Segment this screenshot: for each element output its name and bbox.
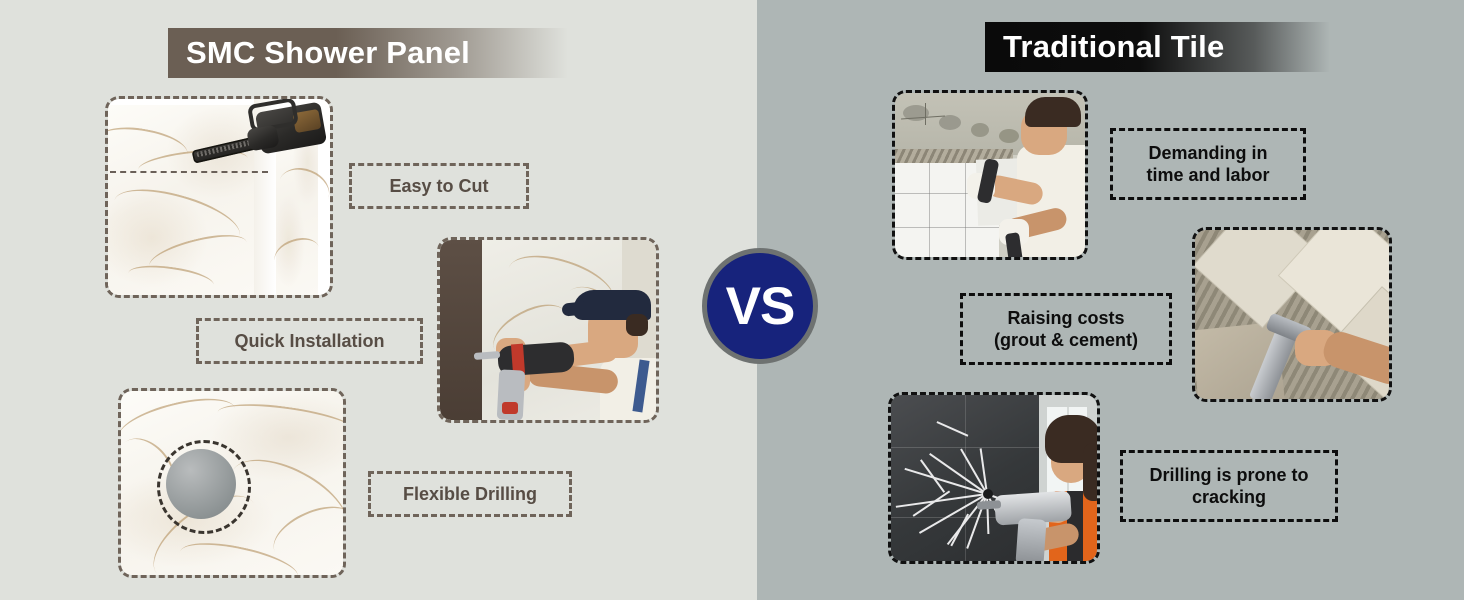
- callout-flexible-drilling-label: Flexible Drilling: [403, 483, 537, 506]
- callout-quick-installation-label: Quick Installation: [234, 330, 384, 353]
- right-section-title: Traditional Tile: [985, 22, 1330, 72]
- drill-hole-dashed-outline: [157, 440, 251, 534]
- callout-easy-to-cut-label: Easy to Cut: [389, 175, 488, 198]
- callout-raising-costs-line2: (grout & cement): [994, 329, 1138, 352]
- vs-badge: VS: [702, 248, 818, 364]
- callout-flexible-drilling: Flexible Drilling: [368, 471, 572, 517]
- photo-trowel-spreading-adhesive: [1192, 227, 1392, 402]
- infographic-canvas: SMC Shower Panel Traditional Tile VS: [0, 0, 1464, 600]
- callout-easy-to-cut: Easy to Cut: [349, 163, 529, 209]
- photo-panel-installation: [437, 237, 659, 423]
- callout-demanding-time-labor: Demanding in time and labor: [1110, 128, 1306, 200]
- left-section-title: SMC Shower Panel: [168, 28, 568, 78]
- callout-drilling-cracking-line2: cracking: [1192, 486, 1266, 509]
- cut-line-indicator: [110, 171, 268, 173]
- photo-tiler-laying-wall-tiles: [892, 90, 1088, 260]
- callout-quick-installation: Quick Installation: [196, 318, 423, 364]
- callout-raising-costs-line1: Raising costs: [1007, 307, 1124, 330]
- photo-cracked-tile-drilling: [888, 392, 1100, 564]
- callout-drilling-cracking-line1: Drilling is prone to: [1149, 464, 1308, 487]
- photo-marble-panel-drilled-hole: [118, 388, 346, 578]
- callout-demanding-line2: time and labor: [1146, 164, 1269, 187]
- callout-raising-costs: Raising costs (grout & cement): [960, 293, 1172, 365]
- callout-demanding-line1: Demanding in: [1148, 142, 1267, 165]
- callout-drilling-cracking: Drilling is prone to cracking: [1120, 450, 1338, 522]
- photo-marble-panel-cutting: [105, 96, 333, 298]
